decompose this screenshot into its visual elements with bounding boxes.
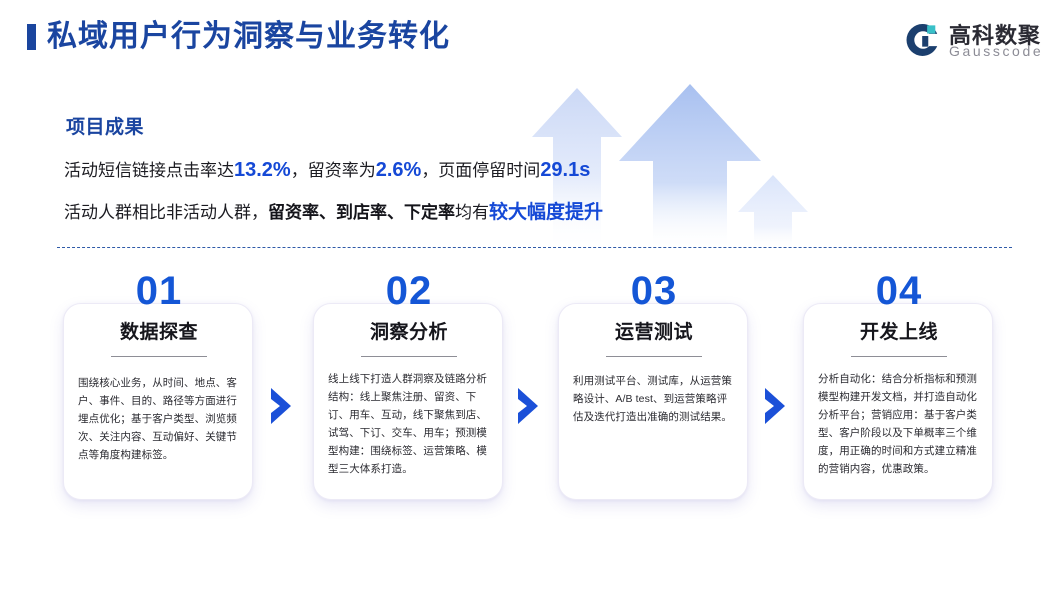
results-l2-seg2: 均有 xyxy=(455,203,489,222)
step-title-rule xyxy=(851,356,947,357)
results-line-1: 活动短信链接点击率达13.2%，留资率为2.6%，页面停留时间29.1s xyxy=(64,157,590,184)
step-description: 围绕核心业务，从时间、地点、客户、事件、目的、路径等方面进行埋点优化；基于客户类… xyxy=(78,374,242,464)
page-title: 私域用户行为洞察与业务转化 xyxy=(47,17,450,57)
results-l1-seg2: ，留资率为 xyxy=(291,161,376,180)
step-card-04[interactable]: 04 开发上线 分析自动化：结合分析指标和预测模型构建开发文档，并打造自动化分析… xyxy=(803,303,993,500)
results-l1-seg3: ，页面停留时间 xyxy=(421,161,540,180)
step-number: 02 xyxy=(314,269,504,313)
brand-logo: 高科数聚 Gausscode xyxy=(903,18,1033,64)
step-title-rule xyxy=(606,356,702,357)
results-line-2: 活动人群相比非活动人群，留资率、到店率、下定率均有较大幅度提升 xyxy=(64,200,603,226)
step-card-01[interactable]: 01 数据探查 围绕核心业务，从时间、地点、客户、事件、目的、路径等方面进行埋点… xyxy=(63,303,253,500)
results-metric-leadrate: 2.6% xyxy=(376,159,422,181)
step-title: 洞察分析 xyxy=(314,317,504,344)
step-number: 01 xyxy=(64,269,254,313)
step-title-rule xyxy=(111,356,207,357)
step-title: 数据探查 xyxy=(64,317,254,344)
slide-header: 私域用户行为洞察与业务转化 高科数聚 Gausscode xyxy=(0,0,1048,78)
results-l2-bold-metrics: 留资率、到店率、下定率 xyxy=(268,203,455,222)
title-accent-marker xyxy=(27,24,36,50)
step-description: 线上线下打造人群洞察及链路分析结构：线上聚焦注册、留资、下订、用车、互动，线下聚… xyxy=(328,370,492,478)
results-l1-seg1: 活动短信链接点击率达 xyxy=(64,161,234,180)
up-arrow-icon xyxy=(619,84,761,249)
step-card-02[interactable]: 02 洞察分析 线上线下打造人群洞察及链路分析结构：线上聚焦注册、留资、下订、用… xyxy=(313,303,503,500)
logo-name-en: Gausscode xyxy=(949,43,1043,59)
chevron-right-icon xyxy=(268,386,294,426)
step-description: 分析自动化：结合分析指标和预测模型构建开发文档，并打造自动化分析平台；营销应用：… xyxy=(818,370,982,478)
slide-canvas: 私域用户行为洞察与业务转化 高科数聚 Gausscode 项目成果 活动短信链接… xyxy=(0,0,1048,591)
step-card-03[interactable]: 03 运营测试 利用测试平台、测试库，从运营策略设计、A/B test、到运营策… xyxy=(558,303,748,500)
results-l2-highlight: 较大幅度提升 xyxy=(489,202,603,223)
step-description: 利用测试平台、测试库，从运营策略设计、A/B test、到运营策略评估及迭代打造… xyxy=(573,372,737,426)
gausscode-g-logo-icon xyxy=(903,21,941,59)
section-divider xyxy=(57,247,1012,248)
up-arrow-icon xyxy=(738,175,808,249)
step-title: 运营测试 xyxy=(559,317,749,344)
chevron-right-icon xyxy=(515,386,541,426)
results-heading: 项目成果 xyxy=(66,112,144,139)
results-l2-seg1: 活动人群相比非活动人群， xyxy=(64,203,268,222)
step-number: 04 xyxy=(804,269,994,313)
chevron-right-icon xyxy=(762,386,788,426)
step-title-rule xyxy=(361,356,457,357)
step-title: 开发上线 xyxy=(804,317,994,344)
results-metric-dwelltime: 29.1s xyxy=(540,159,590,181)
results-metric-ctr: 13.2% xyxy=(234,159,291,181)
process-steps-group: 01 数据探查 围绕核心业务，从时间、地点、客户、事件、目的、路径等方面进行埋点… xyxy=(0,268,1048,518)
step-number: 03 xyxy=(559,269,749,313)
